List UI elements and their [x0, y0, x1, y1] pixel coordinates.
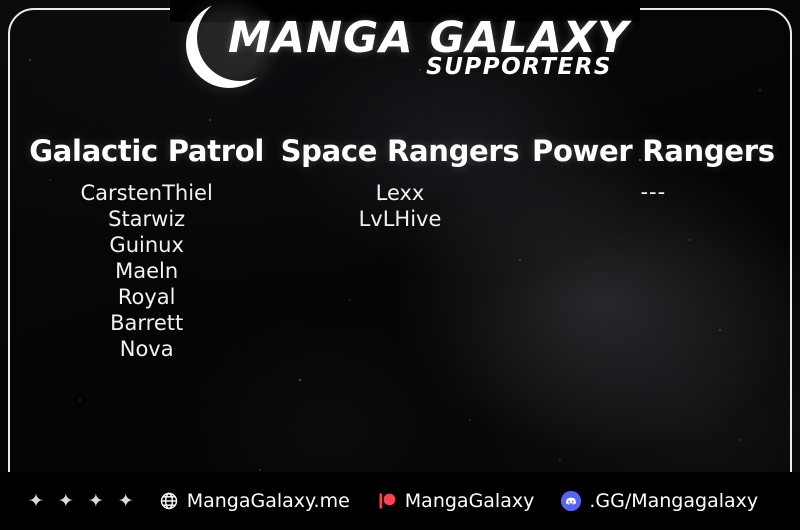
list-item: LvLHive [273, 206, 526, 232]
sparkle-icon: ✦ [118, 492, 134, 511]
patreon-icon [376, 490, 398, 512]
footer-link-patreon[interactable]: MangaGalaxy [376, 490, 535, 512]
sparkle-icon: ✦ [58, 492, 74, 511]
tier-title: Galactic Patrol [20, 134, 273, 168]
list-item: Nova [20, 336, 273, 362]
discord-icon [560, 490, 582, 512]
list-item: Royal [20, 284, 273, 310]
footer-link-label: .GG/Mangagalaxy [589, 490, 758, 512]
footer-link-discord[interactable]: .GG/Mangagalaxy [560, 490, 758, 512]
list-item: Starwiz [20, 206, 273, 232]
tier-column-galactic-patrol: Galactic Patrol CarstenThiel Starwiz Gui… [20, 134, 273, 362]
footer-link-label: MangaGalaxy [405, 490, 535, 512]
list-item: CarstenThiel [20, 180, 273, 206]
empty-placeholder: --- [527, 180, 780, 204]
sparkle-decorations: ✦ ✦ ✦ ✦ [28, 492, 134, 511]
footer-link-website[interactable]: MangaGalaxy.me [158, 490, 350, 512]
sparkle-icon: ✦ [88, 492, 104, 511]
supporter-list: Lexx LvLHive [273, 180, 526, 232]
tier-title: Space Rangers [273, 134, 526, 168]
list-item: Lexx [273, 180, 526, 206]
sparkle-icon: ✦ [28, 492, 44, 511]
footer-link-label: MangaGalaxy.me [187, 490, 350, 512]
supporter-list: CarstenThiel Starwiz Guinux Maeln Royal … [20, 180, 273, 362]
tier-column-space-rangers: Space Rangers Lexx LvLHive [273, 134, 526, 232]
list-item: Guinux [20, 232, 273, 258]
globe-icon [158, 490, 180, 512]
poster-footer: ✦ ✦ ✦ ✦ MangaGalaxy.me [0, 472, 800, 530]
list-item: Barrett [20, 310, 273, 336]
page-subtitle: SUPPORTERS [228, 54, 628, 80]
footer-links: MangaGalaxy.me MangaGalaxy [158, 490, 758, 512]
poster-header: MANGA GALAXY SUPPORTERS [0, 0, 800, 92]
supporters-poster: MANGA GALAXY SUPPORTERS Galactic Patrol … [0, 0, 800, 530]
tier-column-power-rangers: Power Rangers --- [527, 134, 780, 204]
tier-title: Power Rangers [527, 134, 780, 168]
tier-columns: Galactic Patrol CarstenThiel Starwiz Gui… [20, 134, 780, 362]
list-item: Maeln [20, 258, 273, 284]
